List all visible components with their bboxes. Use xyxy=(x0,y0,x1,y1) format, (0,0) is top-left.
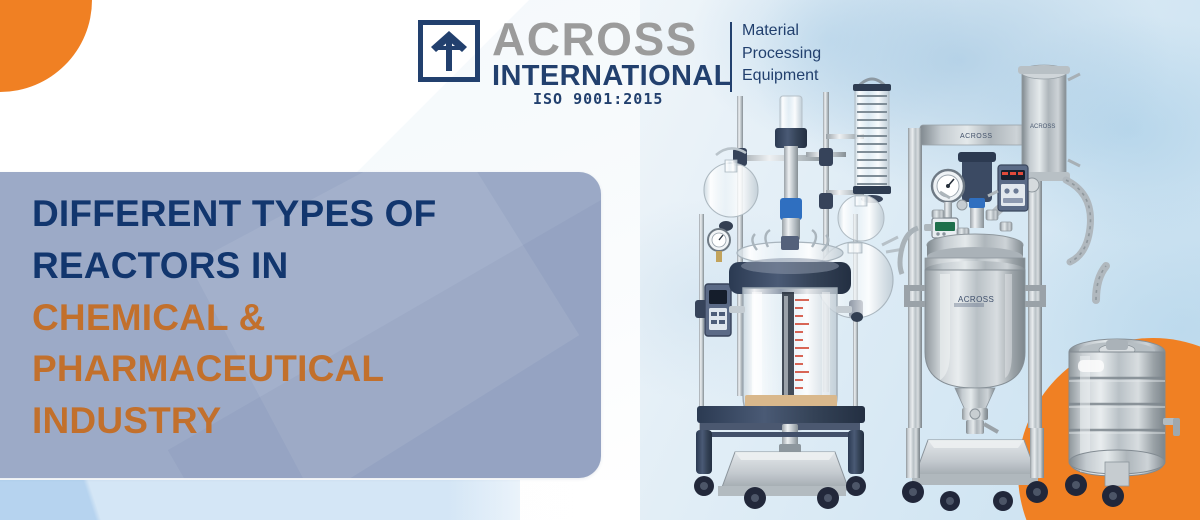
headline-line-5: INDUSTRY xyxy=(32,395,572,447)
across-arrow-mark-icon xyxy=(418,20,480,82)
bottom-band-fade xyxy=(0,480,640,520)
logo-divider xyxy=(730,22,732,92)
brand-name-primary: ACROSS xyxy=(492,18,732,60)
headline-panel: DIFFERENT TYPES OF REACTORS IN CHEMICAL … xyxy=(0,172,601,478)
headline-text: DIFFERENT TYPES OF REACTORS IN CHEMICAL … xyxy=(32,188,572,447)
iso-certification-label: ISO 9001:2015 xyxy=(533,90,663,108)
tagline-line-2: Processing xyxy=(742,43,821,66)
brand-name-secondary: INTERNATIONAL xyxy=(492,61,732,92)
headline-line-1: DIFFERENT TYPES OF xyxy=(32,188,572,240)
brand-logo[interactable]: ACROSS INTERNATIONAL Material Processing… xyxy=(418,18,732,93)
logo-tagline: Material Processing Equipment xyxy=(742,20,821,88)
headline-line-2: REACTORS IN xyxy=(32,240,572,292)
headline-line-3: CHEMICAL & xyxy=(32,292,572,344)
tagline-line-1: Material xyxy=(742,20,821,43)
marketing-banner: ACROSS ACROSS xyxy=(0,0,1200,520)
headline-line-4: PHARMACEUTICAL xyxy=(32,343,572,395)
tagline-line-3: Equipment xyxy=(742,65,821,88)
